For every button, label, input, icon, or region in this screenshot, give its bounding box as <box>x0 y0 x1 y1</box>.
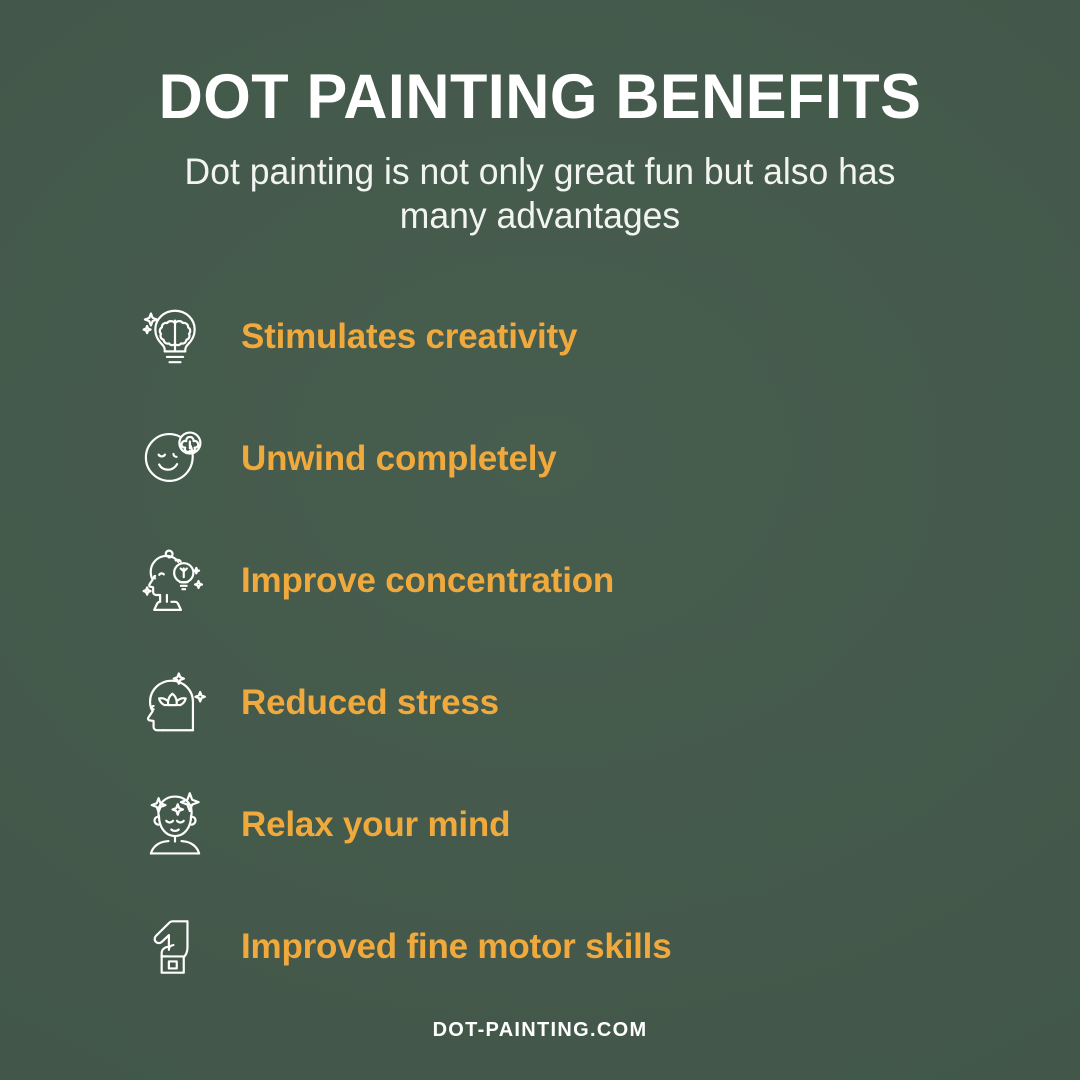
relaxed-face-sparkles-icon <box>135 785 215 865</box>
benefit-label: Unwind completely <box>241 439 557 479</box>
list-item: Stimulates creativity <box>135 276 1080 398</box>
page-subtitle: Dot painting is not only great fun but a… <box>161 150 919 238</box>
lightbulb-brain-icon <box>135 297 215 377</box>
website-url: DOT-PAINTING.COM <box>433 1019 648 1041</box>
footer: DOT-PAINTING.COM <box>0 1019 1080 1042</box>
benefit-label: Relax your mind <box>241 805 510 845</box>
benefit-label: Improved fine motor skills <box>241 927 671 967</box>
list-item: Relax your mind <box>135 764 1080 886</box>
poster-header: DOT PAINTING BENEFITS Dot painting is no… <box>0 0 1080 238</box>
page-title: DOT PAINTING BENEFITS <box>16 64 1064 130</box>
head-lightbulb-icon <box>135 541 215 621</box>
list-item: Unwind completely <box>135 398 1080 520</box>
list-item: Improve concentration <box>135 520 1080 642</box>
smiley-flower-icon <box>135 419 215 499</box>
list-item: Reduced stress <box>135 642 1080 764</box>
hand-holding-block-icon <box>135 907 215 987</box>
benefits-list: Stimulates creativity Unwind completely <box>0 276 1080 1008</box>
poster-canvas: DOT PAINTING BENEFITS Dot painting is no… <box>0 0 1080 1080</box>
benefit-label: Stimulates creativity <box>241 317 577 357</box>
head-lotus-icon <box>135 663 215 743</box>
benefit-label: Improve concentration <box>241 561 614 601</box>
list-item: Improved fine motor skills <box>135 886 1080 1008</box>
benefit-label: Reduced stress <box>241 683 499 723</box>
